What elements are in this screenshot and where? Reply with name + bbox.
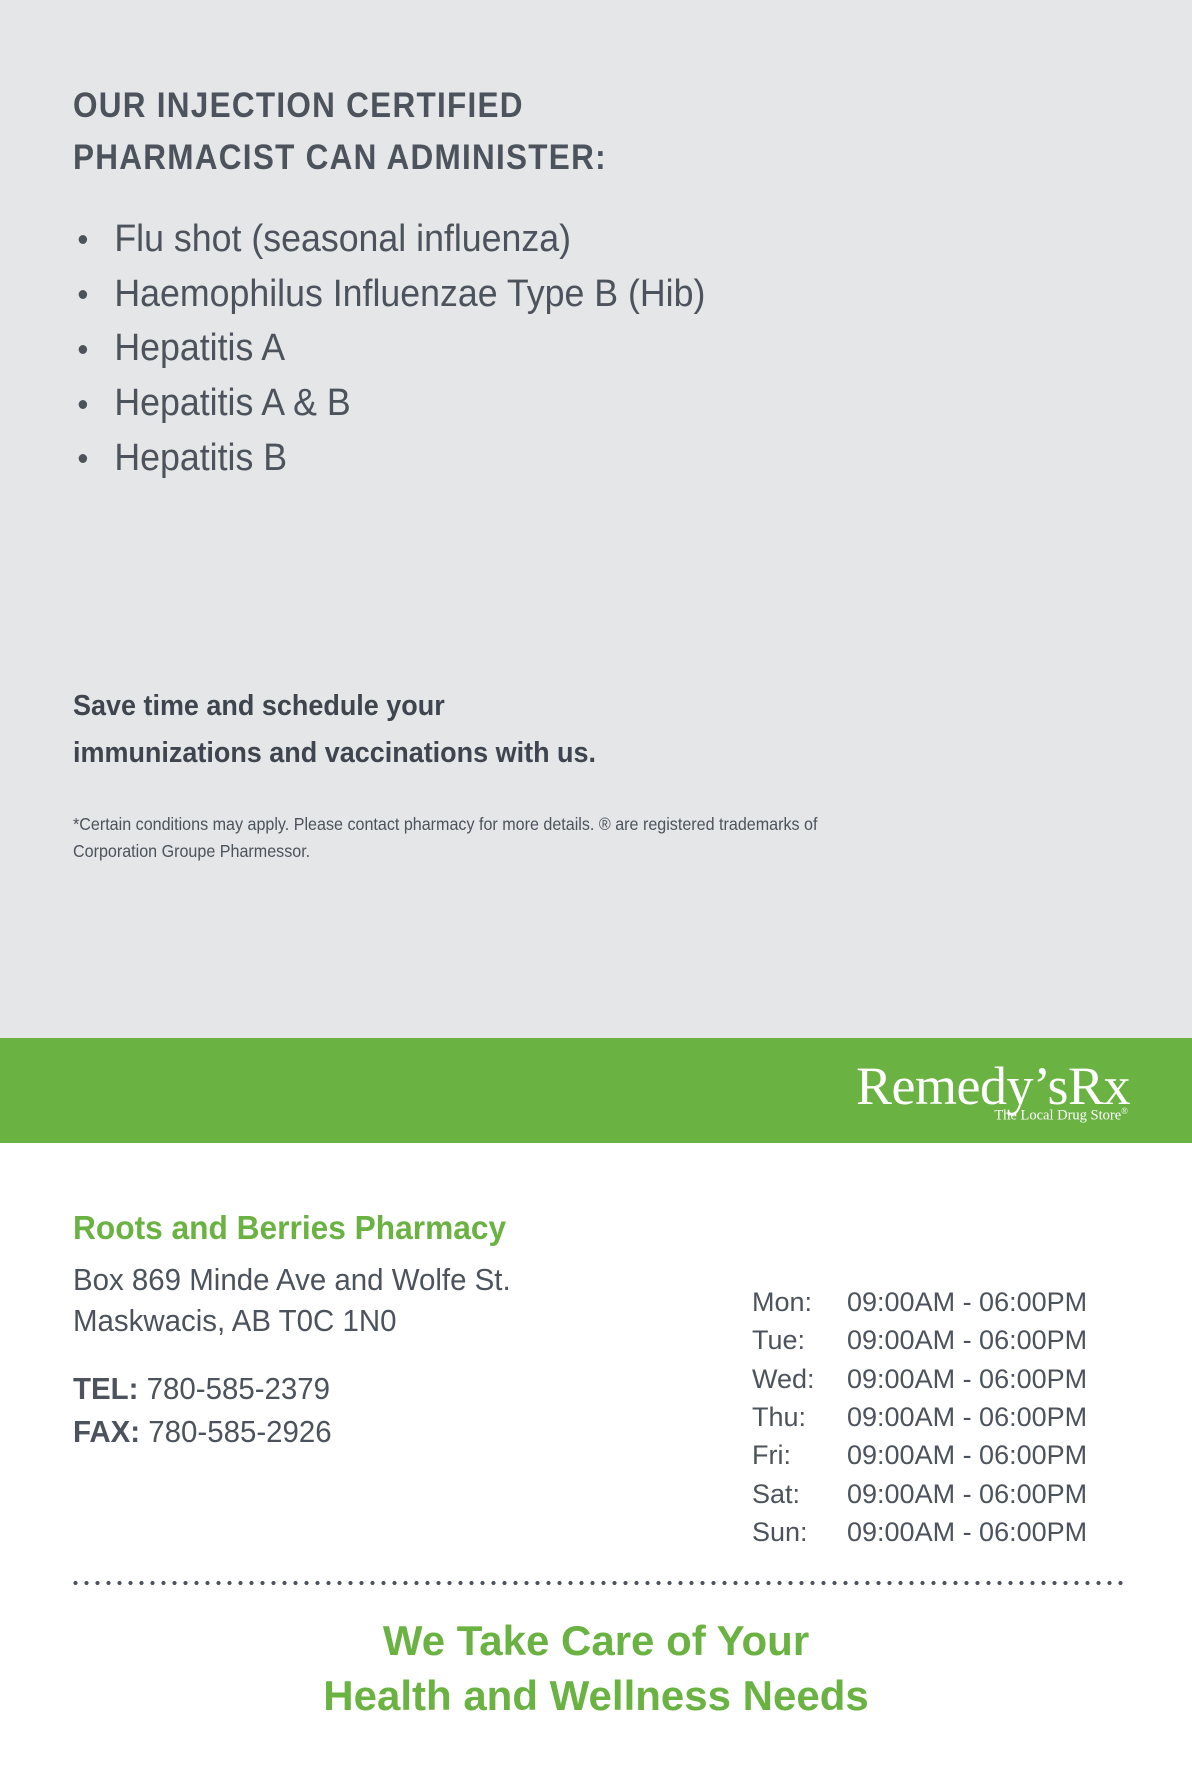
hours-time-value: 09:00AM - 06:00PM	[847, 1398, 1087, 1436]
call-to-action-text: Save time and schedule your immunization…	[73, 683, 910, 777]
hours-time-value: 09:00AM - 06:00PM	[847, 1321, 1087, 1359]
hours-day-label: Wed:	[752, 1360, 847, 1398]
footer-tagline-line-1: We Take Care of Your	[0, 1613, 1192, 1668]
list-item-label: Hepatitis A & B	[114, 382, 350, 424]
list-item: Hepatitis A	[73, 321, 1013, 376]
table-row: Tue: 09:00AM - 06:00PM	[752, 1321, 1087, 1359]
logo-wordmark: Remedy’sRx	[856, 1058, 1130, 1112]
bullet-icon	[79, 454, 87, 463]
hours-time-value: 09:00AM - 06:00PM	[847, 1475, 1087, 1513]
table-row: Mon: 09:00AM - 06:00PM	[752, 1283, 1087, 1321]
address-line-1: Box 869 Minde Ave and Wolfe St.	[73, 1259, 662, 1301]
telephone-row[interactable]: TEL: 780-585-2379	[73, 1368, 662, 1411]
hours-time-value: 09:00AM - 06:00PM	[847, 1513, 1087, 1551]
table-row: Sun: 09:00AM - 06:00PM	[752, 1513, 1087, 1551]
contact-numbers: TEL: 780-585-2379 FAX: 780-585-2926	[73, 1368, 662, 1454]
footer-tagline-line-2: Health and Wellness Needs	[0, 1668, 1192, 1723]
logo-tagline-text: The Local Drug Store	[994, 1107, 1121, 1123]
cta-line-1: Save time and schedule your	[73, 683, 910, 730]
hours-time-value: 09:00AM - 06:00PM	[847, 1360, 1087, 1398]
dotted-divider	[70, 1580, 1123, 1586]
bullet-icon	[79, 290, 87, 299]
disclaimer-line-2: Corporation Groupe Pharmessor.	[73, 838, 1030, 865]
vaccine-list: Flu shot (seasonal influenza) Haemophilu…	[73, 212, 1073, 486]
brand-bar: Remedy’sRx The Local Drug Store®	[0, 1038, 1192, 1143]
store-hours-table: Mon: 09:00AM - 06:00PM Tue: 09:00AM - 06…	[752, 1283, 1087, 1551]
fax-value: 780-585-2926	[148, 1414, 331, 1449]
remedysrx-logo: Remedy’sRx The Local Drug Store®	[856, 1058, 1130, 1122]
table-row: Sat: 09:00AM - 06:00PM	[752, 1475, 1087, 1513]
footer-section: Roots and Berries Pharmacy Box 869 Minde…	[0, 1143, 1192, 1785]
list-item: Flu shot (seasonal influenza)	[73, 212, 1013, 267]
services-panel: OUR INJECTION CERTIFIED PHARMACIST CAN A…	[0, 0, 1192, 1038]
telephone-value[interactable]: 780-585-2379	[147, 1371, 330, 1406]
pharmacy-name: Roots and Berries Pharmacy	[73, 1208, 668, 1248]
hours-time-value: 09:00AM - 06:00PM	[847, 1436, 1087, 1474]
list-item: Hepatitis B	[73, 431, 1013, 486]
disclaimer-text: *Certain conditions may apply. Please co…	[73, 811, 1030, 864]
list-item-label: Haemophilus Influenzae Type B (Hib)	[114, 273, 705, 315]
cta-line-2: immunizations and vaccinations with us.	[73, 730, 910, 777]
fax-row: FAX: 780-585-2926	[73, 1411, 662, 1454]
fax-label: FAX:	[73, 1414, 140, 1449]
hours-day-label: Tue:	[752, 1321, 847, 1359]
disclaimer-line-1: *Certain conditions may apply. Please co…	[73, 811, 1030, 838]
bullet-icon	[79, 400, 87, 409]
page-title-line-1: OUR INJECTION CERTIFIED	[73, 80, 883, 132]
address-line-2: Maskwacis, AB T0C 1N0	[73, 1300, 662, 1342]
list-item: Hepatitis A & B	[73, 376, 1013, 431]
page-title: OUR INJECTION CERTIFIED PHARMACIST CAN A…	[73, 80, 883, 184]
list-item: Haemophilus Influenzae Type B (Hib)	[73, 267, 1013, 322]
hours-day-label: Sat:	[752, 1475, 847, 1513]
footer-tagline: We Take Care of Your Health and Wellness…	[0, 1613, 1192, 1724]
list-item-label: Hepatitis A	[114, 327, 285, 369]
hours-day-label: Fri:	[752, 1436, 847, 1474]
list-item-label: Hepatitis B	[114, 437, 287, 479]
bullet-icon	[79, 235, 87, 244]
telephone-label: TEL:	[73, 1371, 138, 1406]
hours-day-label: Sun:	[752, 1513, 847, 1551]
bullet-icon	[79, 345, 87, 354]
pharmacy-address: Box 869 Minde Ave and Wolfe St. Maskwaci…	[73, 1259, 662, 1343]
table-row: Fri: 09:00AM - 06:00PM	[752, 1436, 1087, 1474]
hours-day-label: Mon:	[752, 1283, 847, 1321]
table-row: Thu: 09:00AM - 06:00PM	[752, 1398, 1087, 1436]
contact-block: Roots and Berries Pharmacy Box 869 Minde…	[73, 1208, 693, 1454]
registered-mark-icon: ®	[1121, 1105, 1128, 1115]
hours-time-value: 09:00AM - 06:00PM	[847, 1283, 1087, 1321]
table-row: Wed: 09:00AM - 06:00PM	[752, 1360, 1087, 1398]
list-item-label: Flu shot (seasonal influenza)	[114, 218, 571, 260]
flyer-page: OUR INJECTION CERTIFIED PHARMACIST CAN A…	[0, 0, 1192, 1785]
page-title-line-2: PHARMACIST CAN ADMINISTER:	[73, 132, 883, 184]
hours-day-label: Thu:	[752, 1398, 847, 1436]
